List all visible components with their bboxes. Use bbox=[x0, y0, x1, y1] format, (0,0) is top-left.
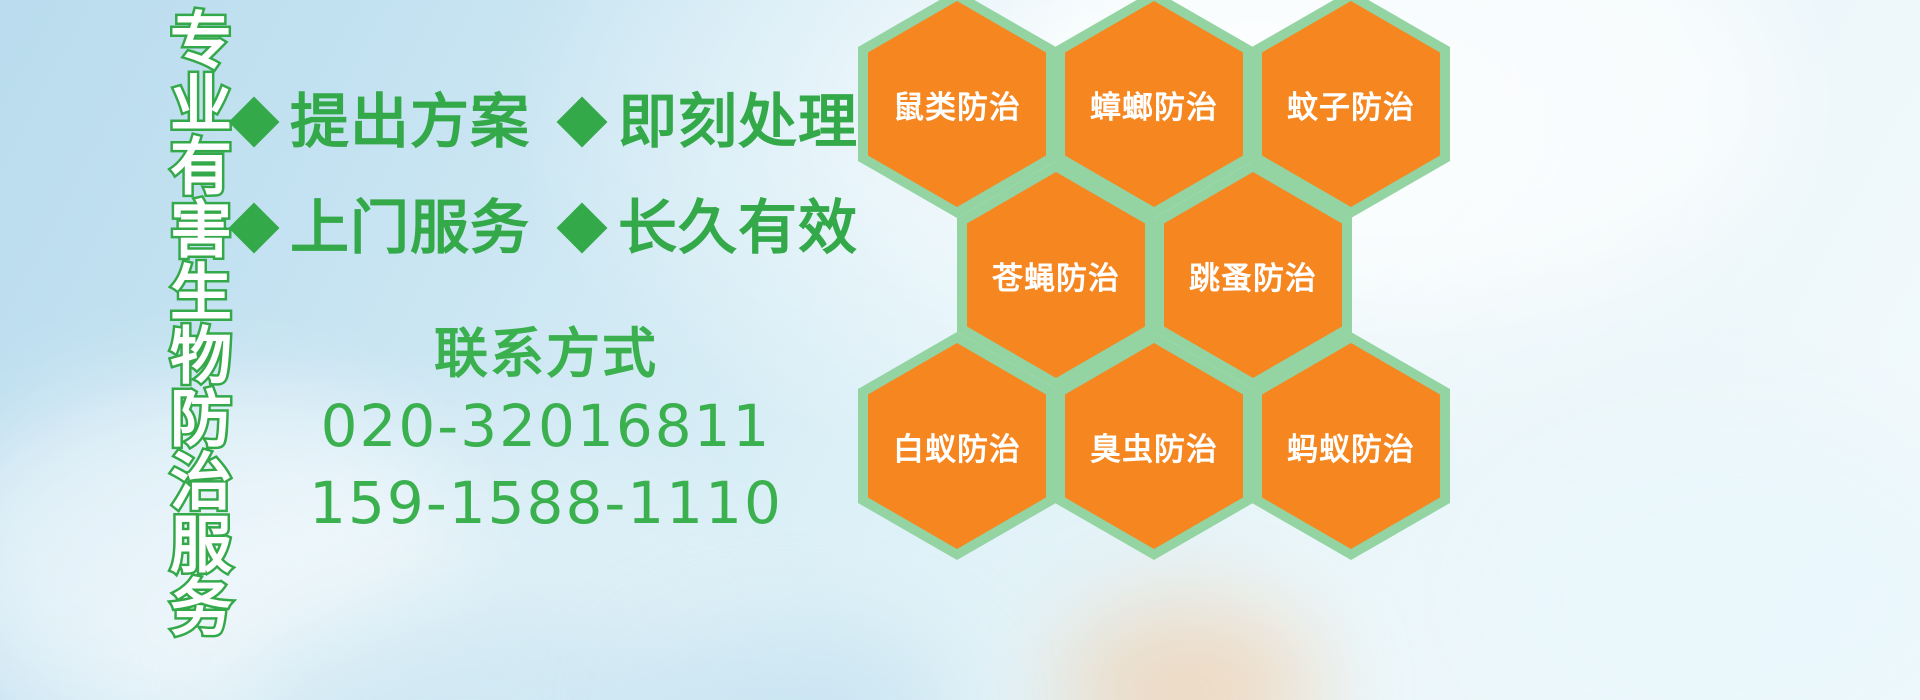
service-honeycomb: 鼠类防治 蟑螂防治 蚊子防治 苍蝇防治 跳蚤防治 白蚁防治 bbox=[852, 0, 1472, 566]
contact-phone-mobile[interactable]: 159-1588-1110 bbox=[236, 465, 856, 543]
feature-label: 长久有效 bbox=[618, 198, 858, 257]
service-hex-termite[interactable]: 白蚁防治 bbox=[858, 332, 1056, 560]
feature-label: 上门服务 bbox=[290, 198, 530, 257]
contact-block: 联系方式 020-32016811 159-1588-1110 bbox=[236, 320, 856, 543]
feature-label: 提出方案 bbox=[290, 92, 530, 151]
service-hex-ant[interactable]: 蚂蚁防治 bbox=[1252, 332, 1450, 560]
feature-item-long-lasting: 长久有效 bbox=[564, 198, 858, 257]
contact-phone-landline[interactable]: 020-32016811 bbox=[236, 388, 856, 466]
feature-item-onsite-service: 上门服务 bbox=[236, 198, 530, 257]
diamond-icon bbox=[229, 96, 280, 147]
diamond-icon bbox=[229, 202, 280, 253]
contact-heading: 联系方式 bbox=[236, 320, 856, 388]
service-label: 白蚁防治 bbox=[858, 332, 1056, 560]
pest-control-banner: 专业有害生物防治服务 提出方案 即刻处理 上门服务 长久有效 联系方式 020-… bbox=[0, 0, 1920, 700]
feature-item-immediate-handling: 即刻处理 bbox=[564, 92, 858, 151]
diamond-icon bbox=[557, 96, 608, 147]
feature-label: 即刻处理 bbox=[618, 92, 858, 151]
feature-row-1: 提出方案 即刻处理 bbox=[236, 92, 858, 151]
vertical-headline: 专业有害生物防治服务 bbox=[130, 8, 226, 638]
background-haze bbox=[1480, 430, 1920, 700]
background-haze bbox=[640, 630, 960, 700]
background-haze bbox=[1060, 600, 1320, 700]
service-label: 蚂蚁防治 bbox=[1252, 332, 1450, 560]
feature-item-propose-plan: 提出方案 bbox=[236, 92, 530, 151]
service-label: 臭虫防治 bbox=[1055, 332, 1253, 560]
background-haze bbox=[240, 600, 700, 700]
feature-row-2: 上门服务 长久有效 bbox=[236, 198, 858, 257]
diamond-icon bbox=[557, 202, 608, 253]
service-hex-bedbug[interactable]: 臭虫防治 bbox=[1055, 332, 1253, 560]
